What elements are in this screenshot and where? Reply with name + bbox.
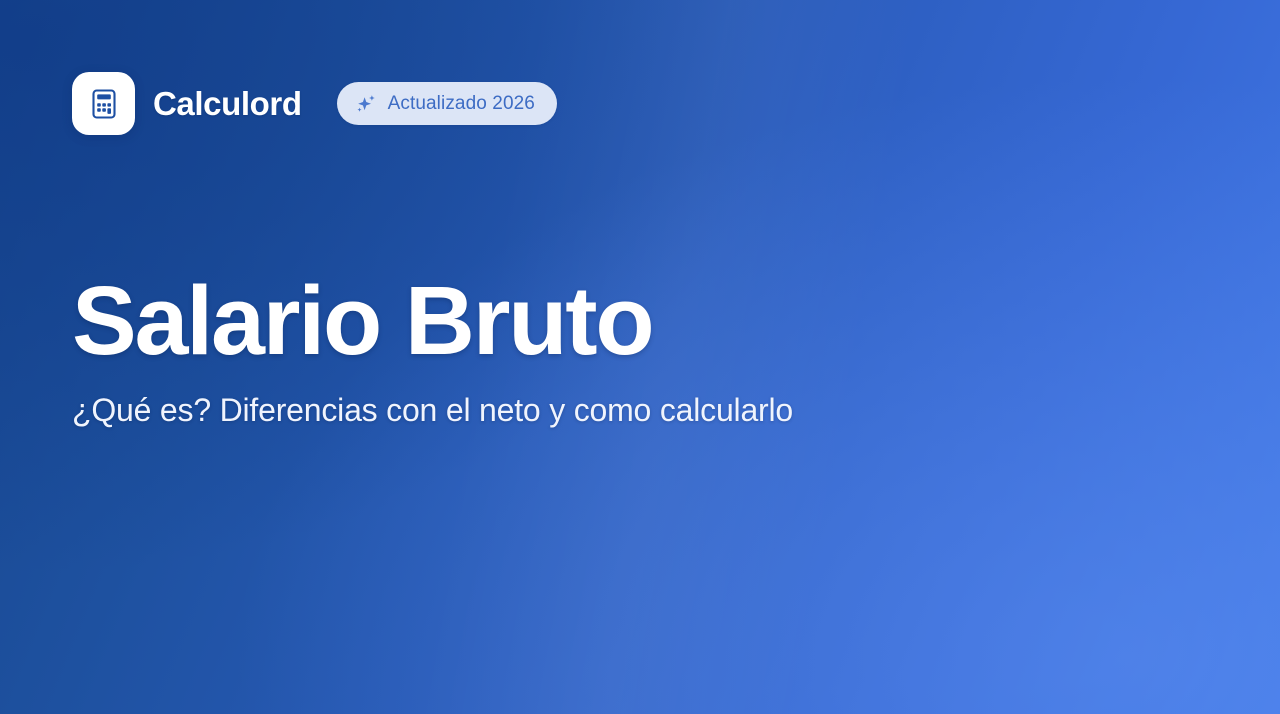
page-subtitle: ¿Qué es? Diferencias con el neto y como … — [72, 391, 1192, 430]
logo-tile[interactable] — [72, 72, 135, 135]
status-badge: Actualizado 2026 — [337, 82, 557, 125]
calculator-icon — [87, 87, 121, 121]
brand-header: Calculord Actualizado 2026 — [72, 72, 557, 135]
brand-name: Calculord — [153, 87, 302, 120]
page-title: Salario Bruto — [72, 272, 1192, 369]
sparkles-icon — [355, 93, 377, 115]
status-badge-label: Actualizado 2026 — [388, 94, 535, 113]
hero-text-block: Salario Bruto ¿Qué es? Diferencias con e… — [72, 272, 1192, 430]
hero-banner: Calculord Actualizado 2026 Salario Bruto… — [0, 0, 1280, 714]
